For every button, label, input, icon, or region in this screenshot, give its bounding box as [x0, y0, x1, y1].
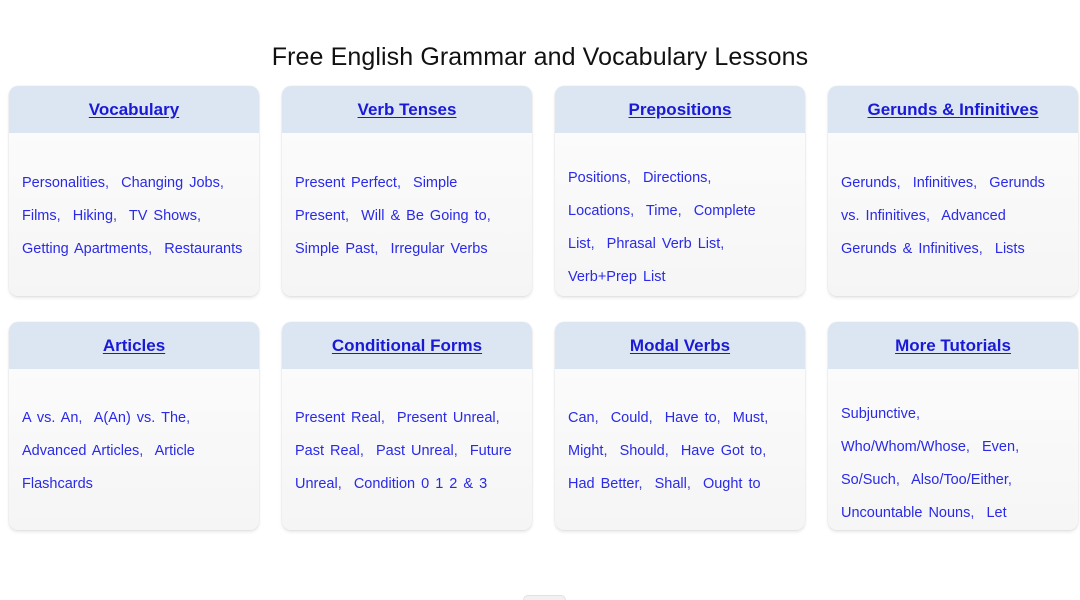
card-title-link-conditional-forms[interactable]: Conditional Forms	[332, 336, 482, 356]
link-separator: ,	[1015, 439, 1025, 455]
lesson-link-past-real[interactable]: Past Real	[295, 443, 360, 459]
link-separator: ,	[220, 175, 230, 191]
lesson-link-will-be-going-to[interactable]: Will & Be Going to	[361, 208, 487, 224]
lesson-link-so-such[interactable]: So/Such	[841, 472, 896, 488]
lesson-link-present-perfect[interactable]: Present Perfect	[295, 175, 397, 191]
lesson-link-had-better[interactable]: Had Better	[568, 476, 639, 492]
link-separator: ,	[78, 410, 93, 426]
card-link-list-modal-verbs: Can, Could, Have to, Must, Might, Should…	[568, 402, 792, 501]
card-body-articles: A vs. An, A(An) vs. The, Advanced Articl…	[9, 369, 259, 530]
page-title: Free English Grammar and Vocabulary Less…	[0, 43, 1080, 72]
link-separator: ,	[764, 410, 774, 426]
link-separator: ,	[496, 410, 506, 426]
lesson-card-conditional-forms: Conditional FormsPresent Real, Present U…	[282, 322, 532, 530]
lesson-link-advanced-articles[interactable]: Advanced Articles	[22, 443, 139, 459]
lesson-link-lists[interactable]: Lists	[995, 241, 1025, 257]
card-header-vocabulary: Vocabulary	[9, 86, 259, 133]
card-header-modal-verbs: Modal Verbs	[555, 322, 805, 369]
link-separator: ,	[113, 208, 129, 224]
lesson-card-gerunds-infinitives: Gerunds & InfinitivesGerunds, Infinitive…	[828, 86, 1078, 296]
lesson-link-phrasal-verb-list[interactable]: Phrasal Verb List	[607, 236, 721, 252]
lesson-card-grid: VocabularyPersonalities, Changing Jobs, …	[9, 86, 1079, 530]
link-separator: ,	[639, 476, 655, 492]
card-body-more-tutorials: Subjunctive, Who/Whom/Whose, Even, So/Su…	[828, 369, 1078, 530]
link-separator: ,	[197, 208, 207, 224]
lesson-link-subjunctive[interactable]: Subjunctive	[841, 406, 916, 422]
card-title-link-modal-verbs[interactable]: Modal Verbs	[630, 336, 730, 356]
bottom-partial-element[interactable]	[523, 595, 566, 600]
card-header-more-tutorials: More Tutorials	[828, 322, 1078, 369]
lesson-link-also-too-either[interactable]: Also/Too/Either	[911, 472, 1008, 488]
lesson-card-modal-verbs: Modal VerbsCan, Could, Have to, Must, Mi…	[555, 322, 805, 530]
card-link-list-more-tutorials: Subjunctive, Who/Whom/Whose, Even, So/Su…	[841, 398, 1065, 530]
lesson-link-irregular-verbs[interactable]: Irregular Verbs	[390, 241, 487, 257]
card-title-link-articles[interactable]: Articles	[103, 336, 165, 356]
link-separator: ,	[148, 241, 164, 257]
link-separator: ,	[487, 208, 497, 224]
link-separator: ,	[720, 236, 730, 252]
lesson-card-verb-tenses: Verb TensesPresent Perfect, Simple Prese…	[282, 86, 532, 296]
lesson-link-a-vs-an[interactable]: A vs. An	[22, 410, 78, 426]
lesson-card-articles: ArticlesA vs. An, A(An) vs. The, Advance…	[9, 322, 259, 530]
link-separator: ,	[707, 170, 717, 186]
card-link-list-vocabulary: Personalities, Changing Jobs, Films, Hik…	[22, 167, 246, 266]
lesson-link-verb-prep-list[interactable]: Verb+Prep List	[568, 269, 666, 285]
card-body-verb-tenses: Present Perfect, Simple Present, Will & …	[282, 133, 532, 296]
card-title-link-verb-tenses[interactable]: Verb Tenses	[358, 100, 457, 120]
link-separator: ,	[591, 236, 607, 252]
link-separator: ,	[360, 443, 376, 459]
card-link-list-verb-tenses: Present Perfect, Simple Present, Will & …	[295, 167, 519, 266]
link-separator: ,	[57, 208, 73, 224]
lesson-link-directions[interactable]: Directions	[643, 170, 707, 186]
lesson-link-time[interactable]: Time	[646, 203, 678, 219]
lesson-link-present-unreal[interactable]: Present Unreal	[397, 410, 496, 426]
card-body-gerunds-infinitives: Gerunds, Infinitives, Gerunds vs. Infini…	[828, 133, 1078, 296]
card-header-prepositions: Prepositions	[555, 86, 805, 133]
card-header-articles: Articles	[9, 322, 259, 369]
card-link-list-articles: A vs. An, A(An) vs. The, Advanced Articl…	[22, 402, 246, 501]
lesson-link-shall[interactable]: Shall	[655, 476, 687, 492]
link-separator: ,	[649, 410, 665, 426]
lesson-link-changing-jobs[interactable]: Changing Jobs	[121, 175, 220, 191]
card-header-verb-tenses: Verb Tenses	[282, 86, 532, 133]
link-separator: ,	[338, 476, 354, 492]
lesson-link-locations[interactable]: Locations	[568, 203, 630, 219]
lesson-link-condition-0-1-2-3[interactable]: Condition 0 1 2 & 3	[354, 476, 487, 492]
link-separator: ,	[973, 175, 989, 191]
card-body-prepositions: Positions, Directions, Locations, Time, …	[555, 133, 805, 296]
lesson-link-personalities[interactable]: Personalities	[22, 175, 105, 191]
link-separator: ,	[595, 410, 611, 426]
card-header-conditional-forms: Conditional Forms	[282, 322, 532, 369]
link-separator: ,	[186, 410, 196, 426]
link-separator: ,	[603, 443, 619, 459]
lesson-link-getting-apartments[interactable]: Getting Apartments	[22, 241, 148, 257]
card-link-list-conditional-forms: Present Real, Present Unreal, Past Real,…	[295, 402, 519, 501]
card-title-link-more-tutorials[interactable]: More Tutorials	[895, 336, 1011, 356]
lesson-link-have-got-to[interactable]: Have Got to	[681, 443, 762, 459]
lesson-link-gerunds[interactable]: Gerunds	[841, 175, 897, 191]
link-separator: ,	[374, 241, 390, 257]
link-separator: ,	[345, 208, 361, 224]
link-separator: ,	[397, 175, 413, 191]
link-separator: ,	[105, 175, 121, 191]
link-separator: ,	[454, 443, 470, 459]
lesson-link-uncountable-nouns[interactable]: Uncountable Nouns	[841, 505, 970, 521]
link-separator: ,	[687, 476, 703, 492]
card-title-link-vocabulary[interactable]: Vocabulary	[89, 100, 179, 120]
link-separator: ,	[1008, 472, 1018, 488]
card-body-modal-verbs: Can, Could, Have to, Must, Might, Should…	[555, 369, 805, 530]
link-separator: ,	[916, 406, 926, 422]
card-title-link-gerunds-infinitives[interactable]: Gerunds & Infinitives	[868, 100, 1039, 120]
lesson-link-a-an-vs-the[interactable]: A(An) vs. The	[94, 410, 186, 426]
lesson-link-hiking[interactable]: Hiking	[73, 208, 113, 224]
link-separator: ,	[139, 443, 154, 459]
link-separator: ,	[665, 443, 681, 459]
lesson-card-prepositions: PrepositionsPositions, Directions, Locat…	[555, 86, 805, 296]
page-root: Free English Grammar and Vocabulary Less…	[0, 0, 1080, 600]
lesson-link-let[interactable]: Let	[986, 505, 1006, 521]
lesson-link-films[interactable]: Films	[22, 208, 57, 224]
link-separator: ,	[762, 443, 772, 459]
link-separator: ,	[627, 170, 643, 186]
lesson-link-who-whom-whose[interactable]: Who/Whom/Whose	[841, 439, 966, 455]
lesson-link-tv-shows[interactable]: TV Shows	[129, 208, 197, 224]
lesson-link-might[interactable]: Might	[568, 443, 603, 459]
lesson-link-could[interactable]: Could	[611, 410, 649, 426]
lesson-card-more-tutorials: More TutorialsSubjunctive, Who/Whom/Whos…	[828, 322, 1078, 530]
link-separator: ,	[926, 208, 941, 224]
link-separator: ,	[381, 410, 397, 426]
lesson-link-simple-past[interactable]: Simple Past	[295, 241, 374, 257]
link-separator: ,	[897, 175, 913, 191]
link-separator: ,	[966, 439, 982, 455]
card-link-list-prepositions: Positions, Directions, Locations, Time, …	[568, 162, 792, 294]
lesson-link-present-real[interactable]: Present Real	[295, 410, 381, 426]
lesson-link-must[interactable]: Must	[733, 410, 764, 426]
lesson-link-ought-to[interactable]: Ought to	[703, 476, 761, 492]
link-separator: ,	[717, 410, 733, 426]
card-link-list-gerunds-infinitives: Gerunds, Infinitives, Gerunds vs. Infini…	[841, 167, 1065, 266]
lesson-link-restaurants[interactable]: Restaurants	[164, 241, 242, 257]
lesson-link-even[interactable]: Even	[982, 439, 1015, 455]
link-separator: ,	[630, 203, 646, 219]
card-title-link-prepositions[interactable]: Prepositions	[629, 100, 732, 120]
lesson-link-infinitives[interactable]: Infinitives	[913, 175, 973, 191]
lesson-link-positions[interactable]: Positions	[568, 170, 627, 186]
card-header-gerunds-infinitives: Gerunds & Infinitives	[828, 86, 1078, 133]
link-separator: ,	[970, 505, 986, 521]
card-body-vocabulary: Personalities, Changing Jobs, Films, Hik…	[9, 133, 259, 296]
link-separator: ,	[896, 472, 911, 488]
card-body-conditional-forms: Present Real, Present Unreal, Past Real,…	[282, 369, 532, 530]
lesson-card-vocabulary: VocabularyPersonalities, Changing Jobs, …	[9, 86, 259, 296]
lesson-link-past-unreal[interactable]: Past Unreal	[376, 443, 454, 459]
link-separator: ,	[979, 241, 995, 257]
lesson-link-should[interactable]: Should	[620, 443, 665, 459]
lesson-link-can[interactable]: Can	[568, 410, 595, 426]
link-separator: ,	[678, 203, 694, 219]
lesson-link-have-to[interactable]: Have to	[665, 410, 717, 426]
